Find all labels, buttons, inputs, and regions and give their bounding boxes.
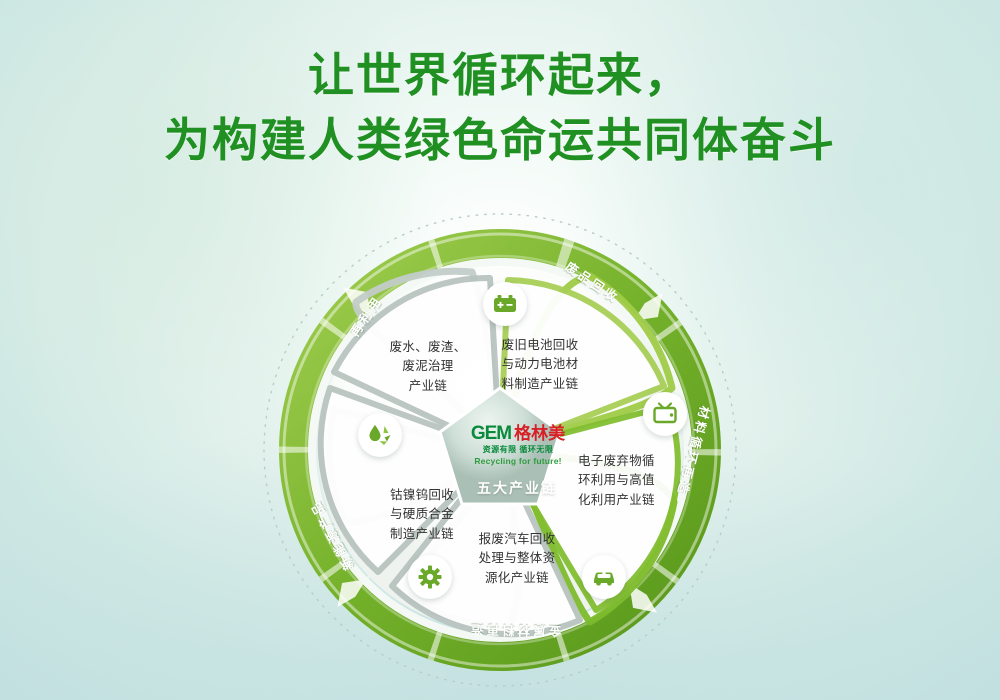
brand-mark: GEM — [471, 423, 511, 444]
chain-label-water: 废水、废渣、 废泥治理 产业链 — [376, 338, 480, 396]
page-title: 让世界循环起来， 为构建人类绿色命运共同体奋斗 — [0, 46, 1000, 170]
chain-label-ewaste: 电子废弃物循 环利用与高值 化利用产业链 — [578, 452, 674, 510]
center-caption: 五大产业链 — [462, 478, 572, 498]
headline-line-1: 让世界循环起来， — [0, 46, 1000, 105]
brand-slogan-en: Recycling for future! — [456, 456, 580, 466]
headline-line-2: 为构建人类绿色命运共同体奋斗 — [0, 111, 1000, 170]
chain-label-battery: 废旧电池回收 与动力电池材 料制造产业链 — [488, 336, 592, 394]
brand-name: 格林美 — [514, 424, 565, 443]
brand-logo: GEM格林美 资源有限 循环无限 Recycling for future! — [456, 424, 580, 466]
brand-slogan-cn: 资源有限 循环无限 — [456, 444, 580, 455]
tv-icon[interactable] — [643, 392, 687, 436]
gear-icon[interactable] — [408, 555, 452, 599]
chain-label-auto: 报废汽车回收 处理与整体资 源化产业链 — [462, 530, 572, 588]
recycle-drop-icon[interactable] — [358, 413, 402, 457]
ring-label-bottom: 金属材料再造 — [468, 621, 561, 642]
car-icon[interactable] — [582, 555, 626, 599]
chain-label-metal: 钴镍钨回收 与硬质合金 制造产业链 — [370, 486, 474, 544]
industry-chain-diagram: GEM格林美 资源有限 循环无限 Recycling for future! 五… — [260, 210, 740, 690]
battery-icon[interactable] — [483, 282, 527, 326]
